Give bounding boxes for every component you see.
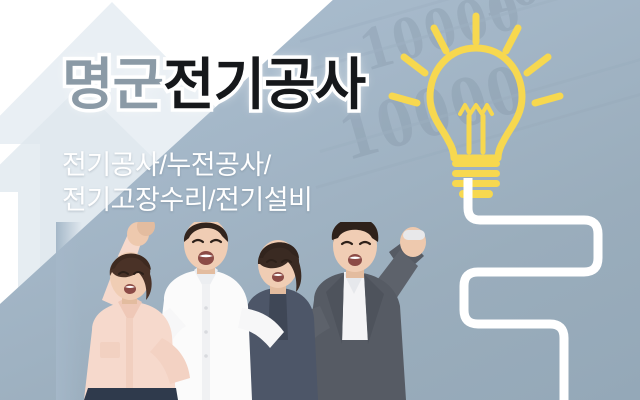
service-subtitle: 전기공사/누전공사/ 전기고장수리/전기설비	[62, 148, 312, 217]
electrical-service-banner: 10000 10000 10000	[0, 0, 640, 400]
cheering-business-people-photo	[56, 222, 452, 400]
subtitle-line-1: 전기공사/누전공사/	[62, 148, 312, 183]
subtitle-line-2: 전기고장수리/전기설비	[62, 183, 312, 218]
brand-name-dark: 전기공사	[163, 53, 365, 116]
power-cord-icon	[432, 178, 640, 400]
brand-name-gray: 명군	[62, 53, 163, 116]
page-title: 명군전기공사	[62, 57, 365, 113]
